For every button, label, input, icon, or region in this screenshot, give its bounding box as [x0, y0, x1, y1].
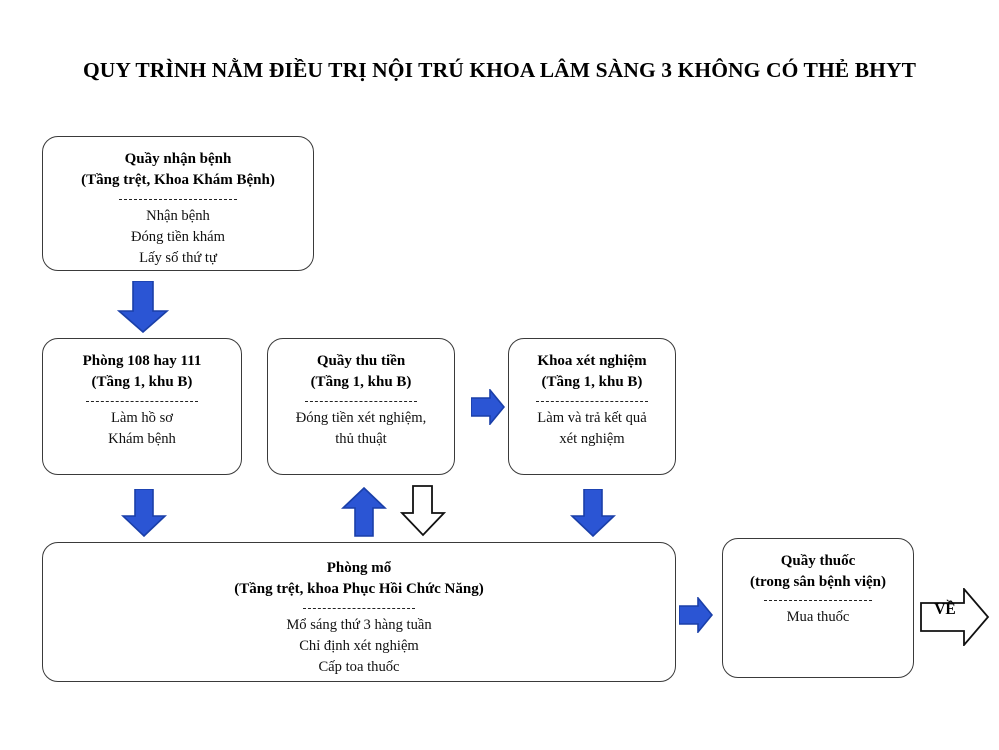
node-surgery-room-task-3: Cấp toa thuốc: [286, 657, 431, 678]
node-pharmacy-heading: Quầy thuốc (trong sân bệnh viện): [744, 551, 892, 594]
node-surgery-room-title: Phòng mổ: [234, 558, 483, 579]
node-room-108-111-task-1: Làm hồ sơ: [108, 408, 176, 429]
node-laboratory-tasks: Làm và trả kết quả xét nghiệm: [529, 408, 654, 451]
node-room-108-111-divider: [86, 401, 198, 402]
arrow-right-cashier-to-lab-icon: [471, 389, 505, 425]
node-room-108-111-tasks: Làm hồ sơ Khám bệnh: [100, 408, 184, 451]
node-pharmacy-tasks: Mua thuốc: [779, 607, 858, 628]
arrow-down-reception-to-room108-icon: [113, 281, 173, 333]
node-cashier-tasks: Đóng tiền xét nghiệm, thủ thuật: [288, 408, 435, 451]
node-reception-task-2: Đóng tiền khám: [131, 227, 225, 248]
arrow-down-room108-to-surgery-icon: [118, 489, 170, 537]
node-cashier-location: (Tầng 1, khu B): [311, 372, 412, 393]
node-reception-title: Quầy nhận bệnh: [81, 149, 275, 170]
node-pharmacy-location: (trong sân bệnh viện): [750, 572, 886, 593]
node-surgery-room-task-2: Chỉ định xét nghiệm: [286, 636, 431, 657]
node-room-108-111-title: Phòng 108 hay 111: [83, 351, 202, 372]
node-surgery-room-divider: [303, 608, 415, 609]
node-cashier[interactable]: Quầy thu tiền (Tầng 1, khu B) Đóng tiền …: [267, 338, 455, 475]
node-laboratory-task-2: xét nghiệm: [537, 429, 646, 450]
node-laboratory-heading: Khoa xét nghiệm (Tầng 1, khu B): [531, 351, 652, 394]
node-reception[interactable]: Quầy nhận bệnh (Tầng trệt, Khoa Khám Bện…: [42, 136, 314, 271]
node-cashier-task-2: thủ thuật: [296, 429, 427, 450]
node-surgery-room-tasks: Mổ sáng thứ 3 hàng tuần Chỉ định xét ngh…: [278, 615, 439, 679]
node-surgery-room-heading: Phòng mổ (Tầng trệt, khoa Phục Hồi Chức …: [228, 558, 489, 601]
exit-label: VỀ: [926, 602, 964, 618]
node-cashier-divider: [305, 401, 417, 402]
node-reception-task-1: Nhận bệnh: [131, 206, 225, 227]
node-room-108-111-task-2: Khám bệnh: [108, 429, 176, 450]
node-reception-divider: [119, 199, 237, 200]
node-cashier-task-1: Đóng tiền xét nghiệm,: [296, 408, 427, 429]
arrow-down-lab-to-surgery-icon: [567, 489, 619, 537]
node-pharmacy-task-1: Mua thuốc: [787, 607, 850, 628]
node-surgery-room[interactable]: Phòng mổ (Tầng trệt, khoa Phục Hồi Chức …: [42, 542, 676, 682]
arrow-down-cashier-to-surgery-icon: [398, 485, 448, 537]
arrow-right-exit-icon: VỀ: [920, 588, 990, 646]
arrow-right-surgery-to-pharmacy-icon: [679, 597, 713, 633]
node-pharmacy-divider: [764, 600, 872, 601]
node-room-108-111-heading: Phòng 108 hay 111 (Tầng 1, khu B): [77, 351, 208, 394]
node-reception-tasks: Nhận bệnh Đóng tiền khám Lấy số thứ tự: [123, 206, 233, 270]
node-laboratory-location: (Tầng 1, khu B): [537, 372, 646, 393]
node-laboratory[interactable]: Khoa xét nghiệm (Tầng 1, khu B) Làm và t…: [508, 338, 676, 475]
arrow-up-surgery-to-cashier-icon: [338, 487, 390, 537]
node-room-108-111[interactable]: Phòng 108 hay 111 (Tầng 1, khu B) Làm hồ…: [42, 338, 242, 475]
node-reception-location: (Tầng trệt, Khoa Khám Bệnh): [81, 170, 275, 191]
node-surgery-room-task-1: Mổ sáng thứ 3 hàng tuần: [286, 615, 431, 636]
node-pharmacy-title: Quầy thuốc: [750, 551, 886, 572]
node-laboratory-task-1: Làm và trả kết quả: [537, 408, 646, 429]
node-surgery-room-location: (Tầng trệt, khoa Phục Hồi Chức Năng): [234, 579, 483, 600]
node-pharmacy[interactable]: Quầy thuốc (trong sân bệnh viện) Mua thu…: [722, 538, 914, 678]
node-reception-heading: Quầy nhận bệnh (Tầng trệt, Khoa Khám Bện…: [75, 149, 281, 192]
node-cashier-heading: Quầy thu tiền (Tầng 1, khu B): [305, 351, 418, 394]
node-laboratory-title: Khoa xét nghiệm: [537, 351, 646, 372]
diagram-canvas: QUY TRÌNH NẰM ĐIỀU TRỊ NỘI TRÚ KHOA LÂM …: [0, 0, 999, 750]
node-laboratory-divider: [536, 401, 648, 402]
page-title: QUY TRÌNH NẰM ĐIỀU TRỊ NỘI TRÚ KHOA LÂM …: [0, 58, 999, 83]
node-cashier-title: Quầy thu tiền: [311, 351, 412, 372]
node-room-108-111-location: (Tầng 1, khu B): [83, 372, 202, 393]
node-reception-task-3: Lấy số thứ tự: [131, 248, 225, 269]
